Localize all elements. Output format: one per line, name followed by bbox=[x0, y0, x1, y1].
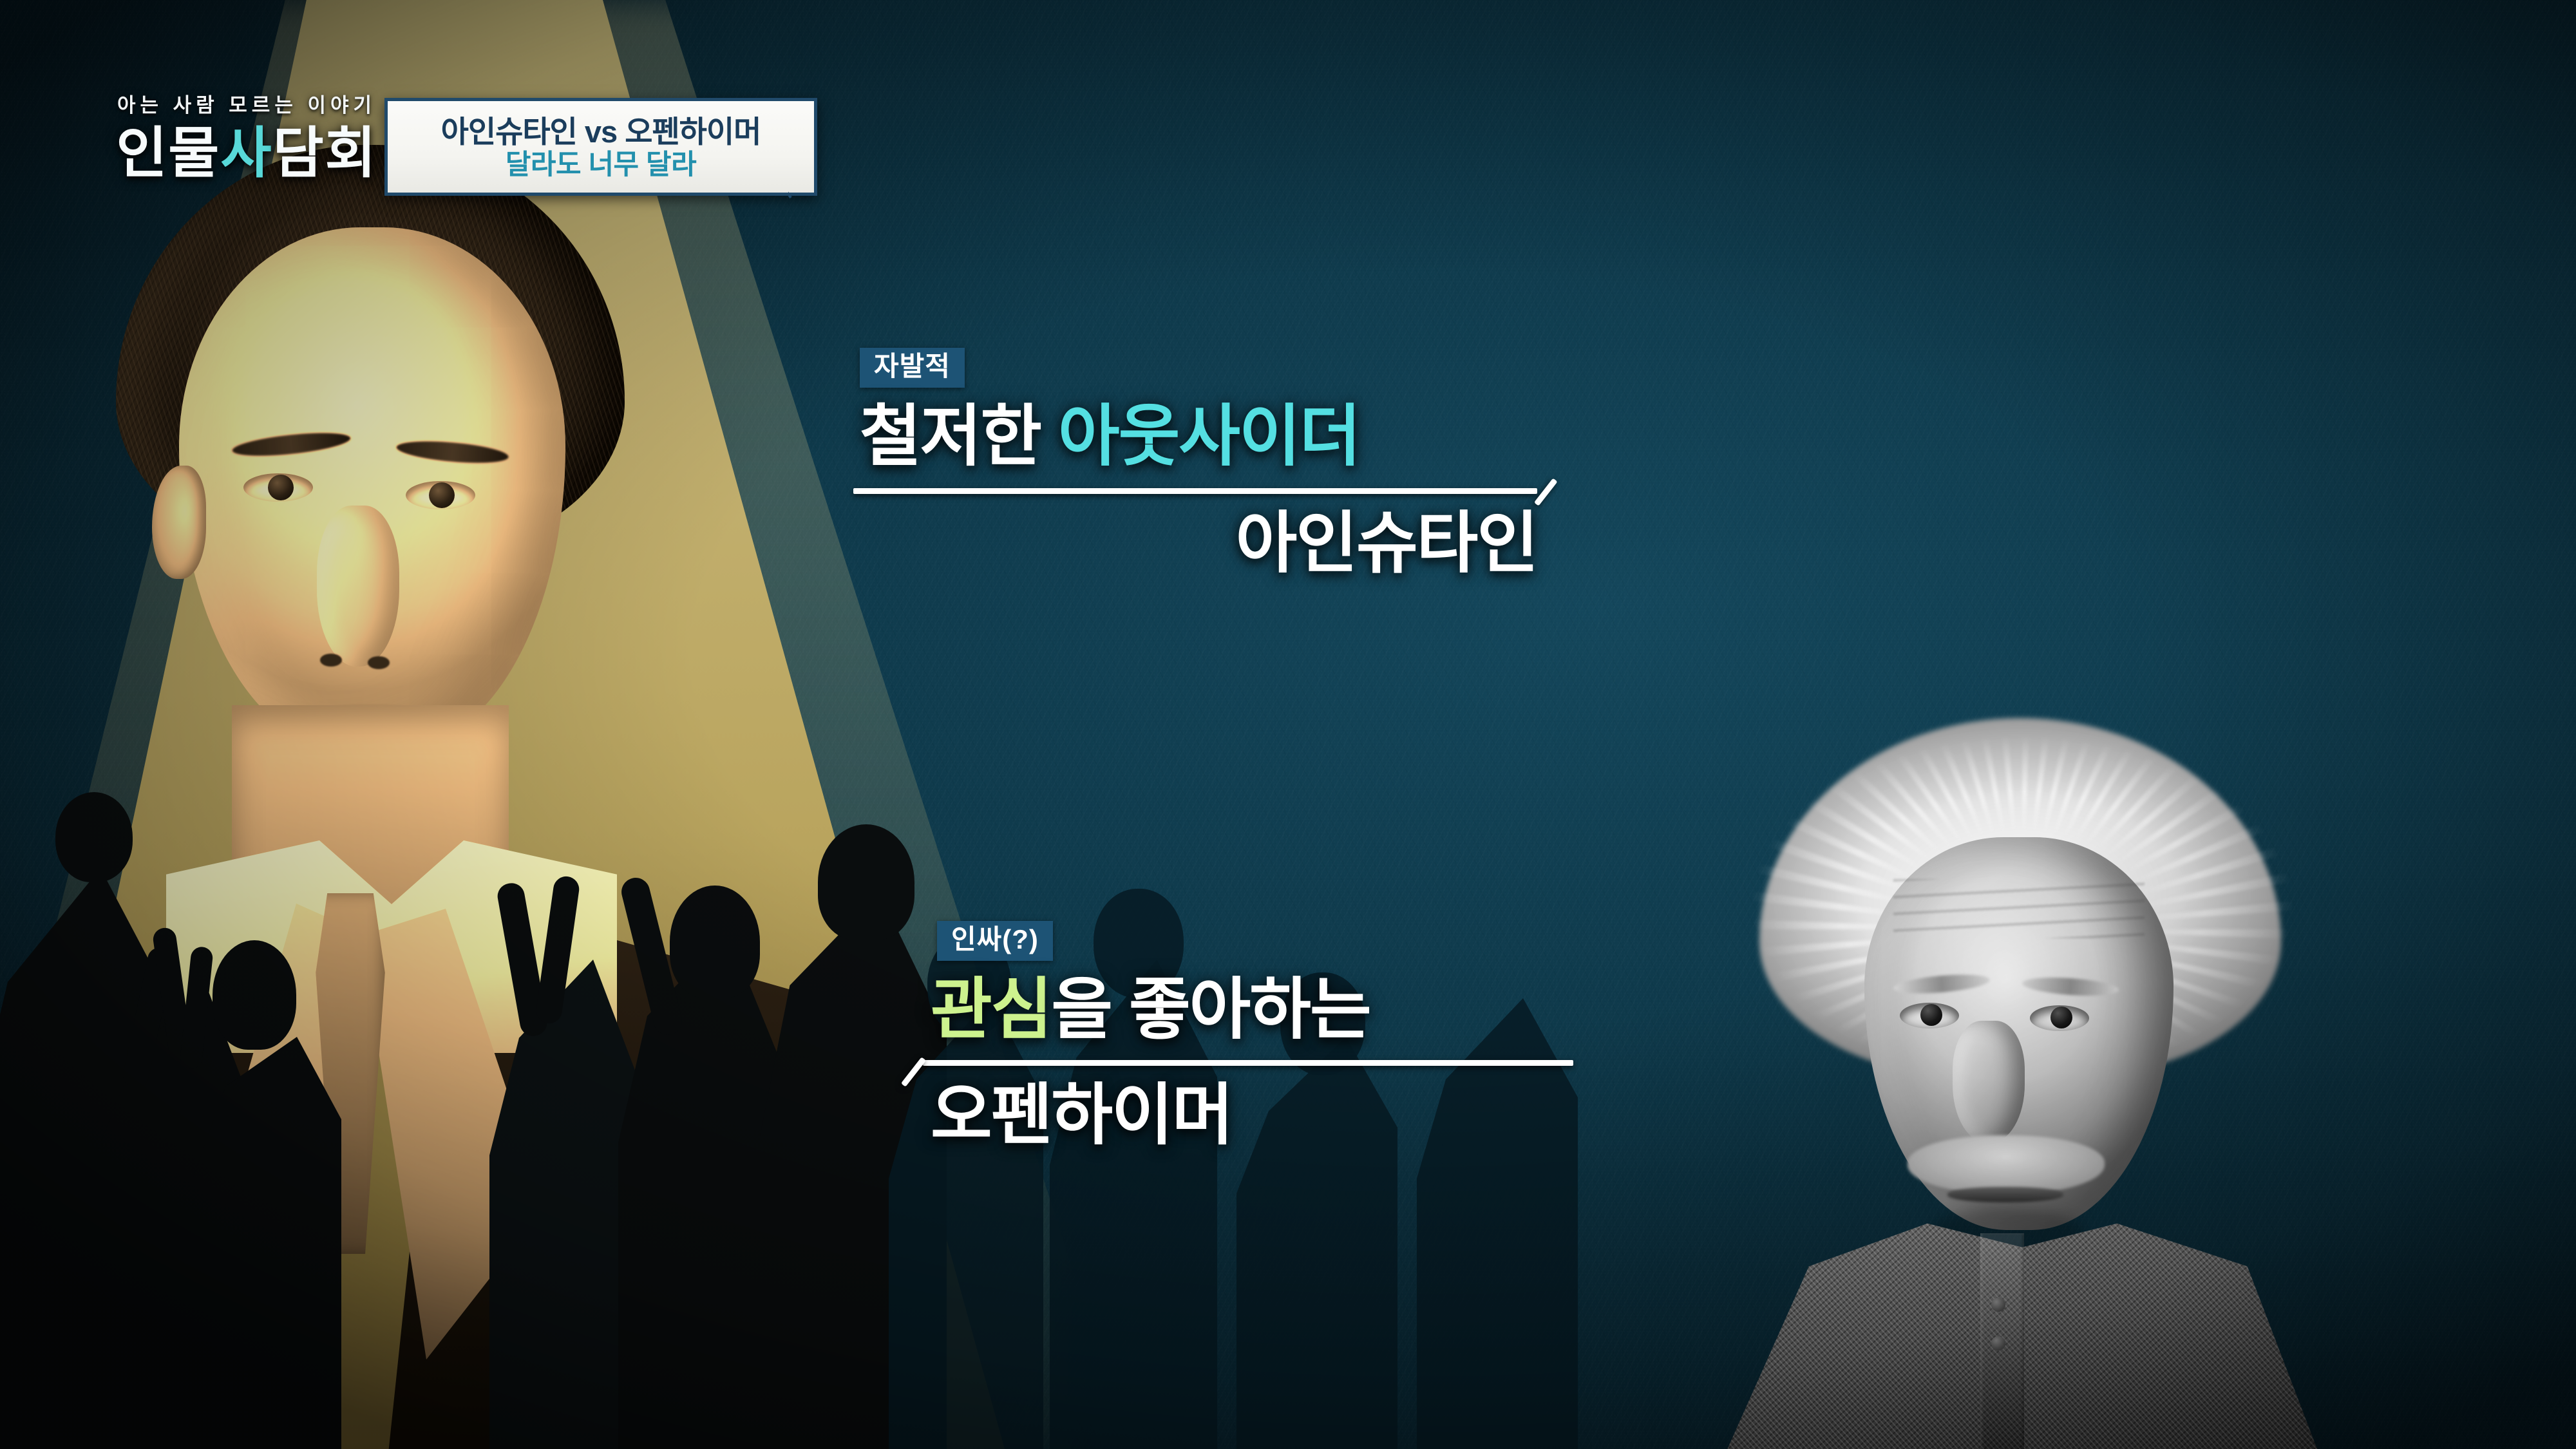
headline-block-oppenheimer: 인싸(?) 관심을 좋아하는 오펜하이머 bbox=[937, 921, 1573, 1155]
program-name: 인물사담회 bbox=[108, 126, 385, 182]
headline-plain-oppenheimer: 을 좋아하는 bbox=[1051, 972, 1370, 1047]
headline-block-einstein: 자발적 철저한 아웃사이더 아인슈타인 bbox=[860, 348, 1537, 583]
headline-highlight-oppenheimer: 관심 bbox=[931, 972, 1051, 1047]
episode-title-secondary: 달라도 너무 달라 bbox=[506, 150, 696, 180]
program-name-part2: 담회 bbox=[273, 122, 377, 184]
program-name-part1: 인물 bbox=[116, 122, 220, 184]
headline-plain-einstein: 철저한 bbox=[860, 399, 1058, 474]
episode-title-primary: 아인슈타인 vs 오펜하이머 bbox=[441, 116, 761, 147]
subject-name-einstein: 아인슈타인 bbox=[853, 504, 1537, 583]
headline-tag-einstein: 자발적 bbox=[860, 348, 965, 388]
subject-name-oppenheimer: 오펜하이머 bbox=[931, 1076, 1573, 1155]
program-subtitle: 아는 사람 모르는 이야기 bbox=[108, 89, 385, 118]
headline-highlight-einstein: 아웃사이더 bbox=[1058, 399, 1359, 474]
headline-text-oppenheimer: 관심을 좋아하는 bbox=[931, 972, 1573, 1047]
headline-rule-oppenheimer bbox=[923, 1060, 1573, 1066]
headline-rule-einstein bbox=[853, 488, 1537, 494]
broadcast-title-card: 아는 사람 모르는 이야기 인물사담회 아인슈타인 vs 오펜하이머 달라도 너… bbox=[0, 0, 2576, 1449]
program-name-accent: 사 bbox=[220, 122, 272, 184]
program-logo: 아는 사람 모르는 이야기 인물사담회 bbox=[108, 89, 385, 182]
episode-title-card: 아인슈타인 vs 오펜하이머 달라도 너무 달라 bbox=[384, 98, 817, 196]
headline-tag-oppenheimer: 인싸(?) bbox=[937, 921, 1053, 961]
background-vignette bbox=[0, 0, 2576, 1449]
headline-text-einstein: 철저한 아웃사이더 bbox=[860, 399, 1537, 474]
title-card-tail bbox=[788, 181, 817, 209]
